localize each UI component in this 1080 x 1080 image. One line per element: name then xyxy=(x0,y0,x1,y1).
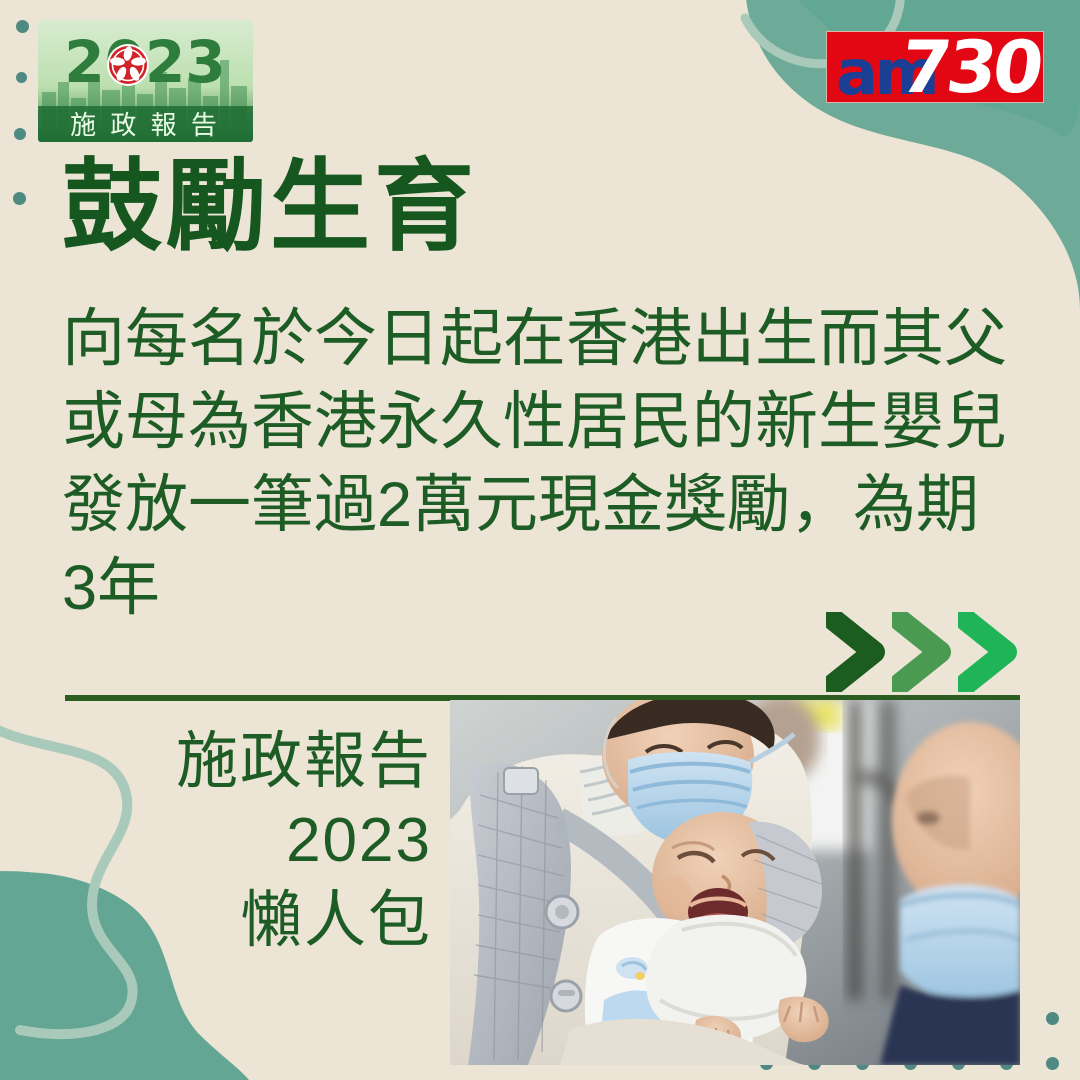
chevron-right-triple-icon xyxy=(826,612,1041,692)
decorative-dot xyxy=(1046,1012,1059,1025)
page-title: 鼓勵生育 xyxy=(62,155,478,260)
series-label: 施政報告 2023 懶人包 xyxy=(120,722,432,960)
am730-logo[interactable]: am 730 xyxy=(826,31,1044,103)
series-label-line: 2023 xyxy=(120,801,432,880)
body-line: 向每名於今日起在香港出生而其父 xyxy=(62,298,992,381)
decorative-dot xyxy=(16,20,29,33)
decorative-dot xyxy=(1046,1057,1059,1070)
series-label-line: 懶人包 xyxy=(120,881,432,960)
hong-kong-bauhinia-emblem xyxy=(107,44,149,86)
body-line: 發放一筆過2萬元現金獎勵，為期 xyxy=(62,464,992,547)
am730-number-text: 730 xyxy=(896,31,1044,103)
decorative-dot xyxy=(14,128,26,140)
hk-policy-address-2023-logo: 2023 施 政 報 告 xyxy=(38,20,253,142)
mother-holding-crying-baby-photo xyxy=(450,700,1020,1065)
decorative-dot xyxy=(13,192,26,205)
decorative-dot xyxy=(16,72,27,83)
series-label-line: 施政報告 xyxy=(120,722,432,801)
policy-description: 向每名於今日起在香港出生而其父 或母為香港永久性居民的新生嬰兒 發放一筆過2萬元… xyxy=(62,298,992,631)
chevron-right-icon xyxy=(958,612,1036,692)
policy-logo-subtitle: 施 政 報 告 xyxy=(70,111,220,141)
body-line: 或母為香港永久性居民的新生嬰兒 xyxy=(62,381,992,464)
